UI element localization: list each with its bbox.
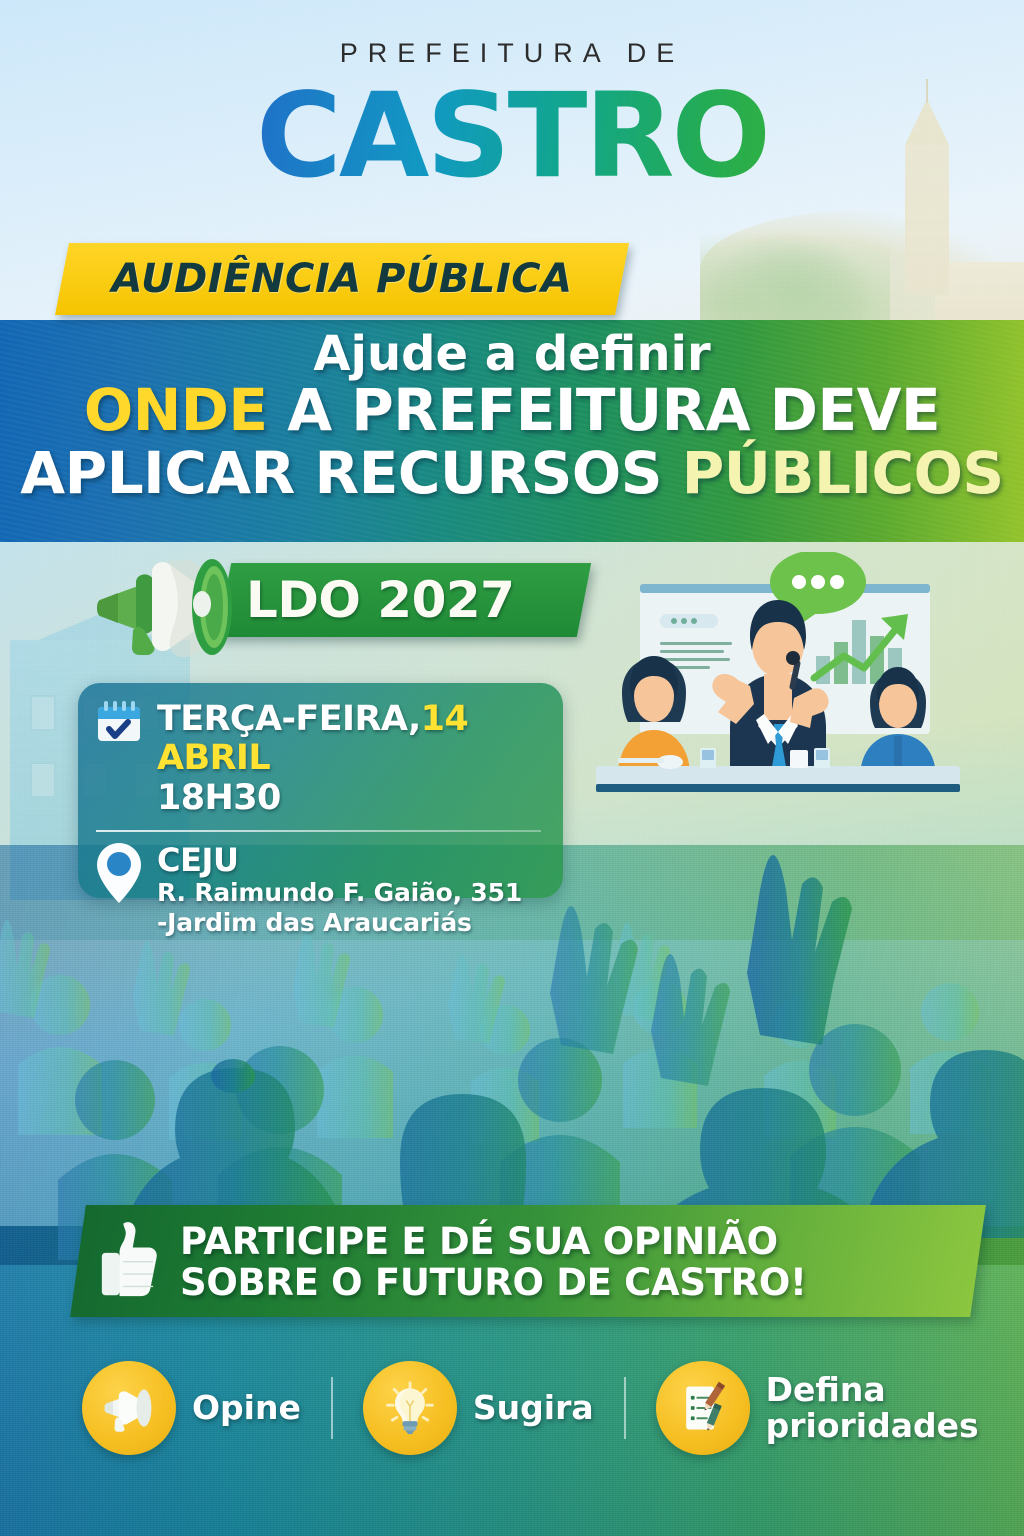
- calendar-check-icon: [94, 699, 144, 754]
- headline-line-3-rest: APLICAR RECURSOS: [20, 439, 662, 507]
- event-address-line-1: R. Raimundo F. Gaião, 351: [157, 878, 545, 908]
- logo-pretitle: PREFEITURA DE: [0, 38, 1024, 69]
- headline-highlight-publicos: PÚBLICOS: [682, 439, 1004, 507]
- event-address-line-2: -Jardim das Araucariás: [157, 908, 545, 938]
- action-defina-prioridades[interactable]: Defina prioridades: [656, 1361, 979, 1455]
- event-info-card: TERÇA-FEIRA,14 ABRIL 18H30 CEJU R. Raimu…: [78, 683, 563, 898]
- cta-line-2: SOBRE O FUTURO DE CASTRO!: [180, 1262, 807, 1303]
- thumbs-up-icon: [100, 1221, 162, 1302]
- ldo-label: LDO 2027: [224, 563, 584, 637]
- action-opine[interactable]: Opine: [82, 1361, 301, 1455]
- action-separator-2: [624, 1377, 626, 1439]
- lightbulb-icon: [363, 1361, 457, 1455]
- action-defina-label: Defina prioridades: [766, 1372, 979, 1443]
- public-hearing-panel-illustration: [578, 552, 978, 807]
- ldo-banner: LDO 2027: [217, 563, 591, 637]
- event-date-line: TERÇA-FEIRA,14 ABRIL: [157, 700, 545, 778]
- headline-line-2: ONDE A PREFEITURA DEVE: [0, 379, 1024, 442]
- logo-wordmark: CASTRO: [0, 67, 1024, 204]
- call-to-action-banner: PARTICIPE E DÉ SUA OPINIÃO SOBRE O FUTUR…: [70, 1205, 986, 1317]
- clipboard-pencil-icon: [656, 1361, 750, 1455]
- headline-highlight-onde: ONDE: [84, 376, 268, 444]
- headline-line-1: Ajude a definir: [0, 329, 1024, 379]
- action-separator-1: [331, 1377, 333, 1439]
- headline-line-3: APLICAR RECURSOS PÚBLICOS: [0, 442, 1024, 505]
- map-pin-icon: [94, 842, 144, 909]
- headline-band: Ajude a definir ONDE A PREFEITURA DEVE A…: [0, 320, 1024, 542]
- audiencia-publica-label: AUDIÊNCIA PÚBLICA: [62, 243, 622, 315]
- audiencia-publica-banner: AUDIÊNCIA PÚBLICA: [55, 243, 629, 315]
- action-icons-row: Opine: [0, 1348, 1024, 1468]
- cta-line-1: PARTICIPE E DÉ SUA OPINIÃO: [180, 1221, 807, 1262]
- action-opine-label: Opine: [192, 1390, 301, 1426]
- megaphone-icon: [90, 552, 250, 657]
- card-divider: [96, 830, 541, 832]
- poster-canvas: PREFEITURA DE CASTRO AUDIÊNCIA PÚBLICA A…: [0, 0, 1024, 1536]
- action-defina-label-line-1: Defina: [766, 1372, 979, 1408]
- event-time: 18H30: [157, 778, 545, 818]
- city-logo: PREFEITURA DE CASTRO: [0, 38, 1024, 204]
- megaphone-icon: [82, 1361, 176, 1455]
- action-sugira-label: Sugira: [473, 1390, 594, 1426]
- event-venue: CEJU: [157, 843, 545, 878]
- event-location-row: CEJU R. Raimundo F. Gaião, 351 -Jardim d…: [94, 842, 545, 938]
- headline-line-2-rest: A PREFEITURA DEVE: [287, 376, 940, 444]
- event-datetime-row: TERÇA-FEIRA,14 ABRIL 18H30: [94, 699, 545, 819]
- action-sugira[interactable]: Sugira: [363, 1361, 594, 1455]
- action-defina-label-line-2: prioridades: [766, 1408, 979, 1444]
- event-weekday: TERÇA-FEIRA,: [157, 699, 421, 739]
